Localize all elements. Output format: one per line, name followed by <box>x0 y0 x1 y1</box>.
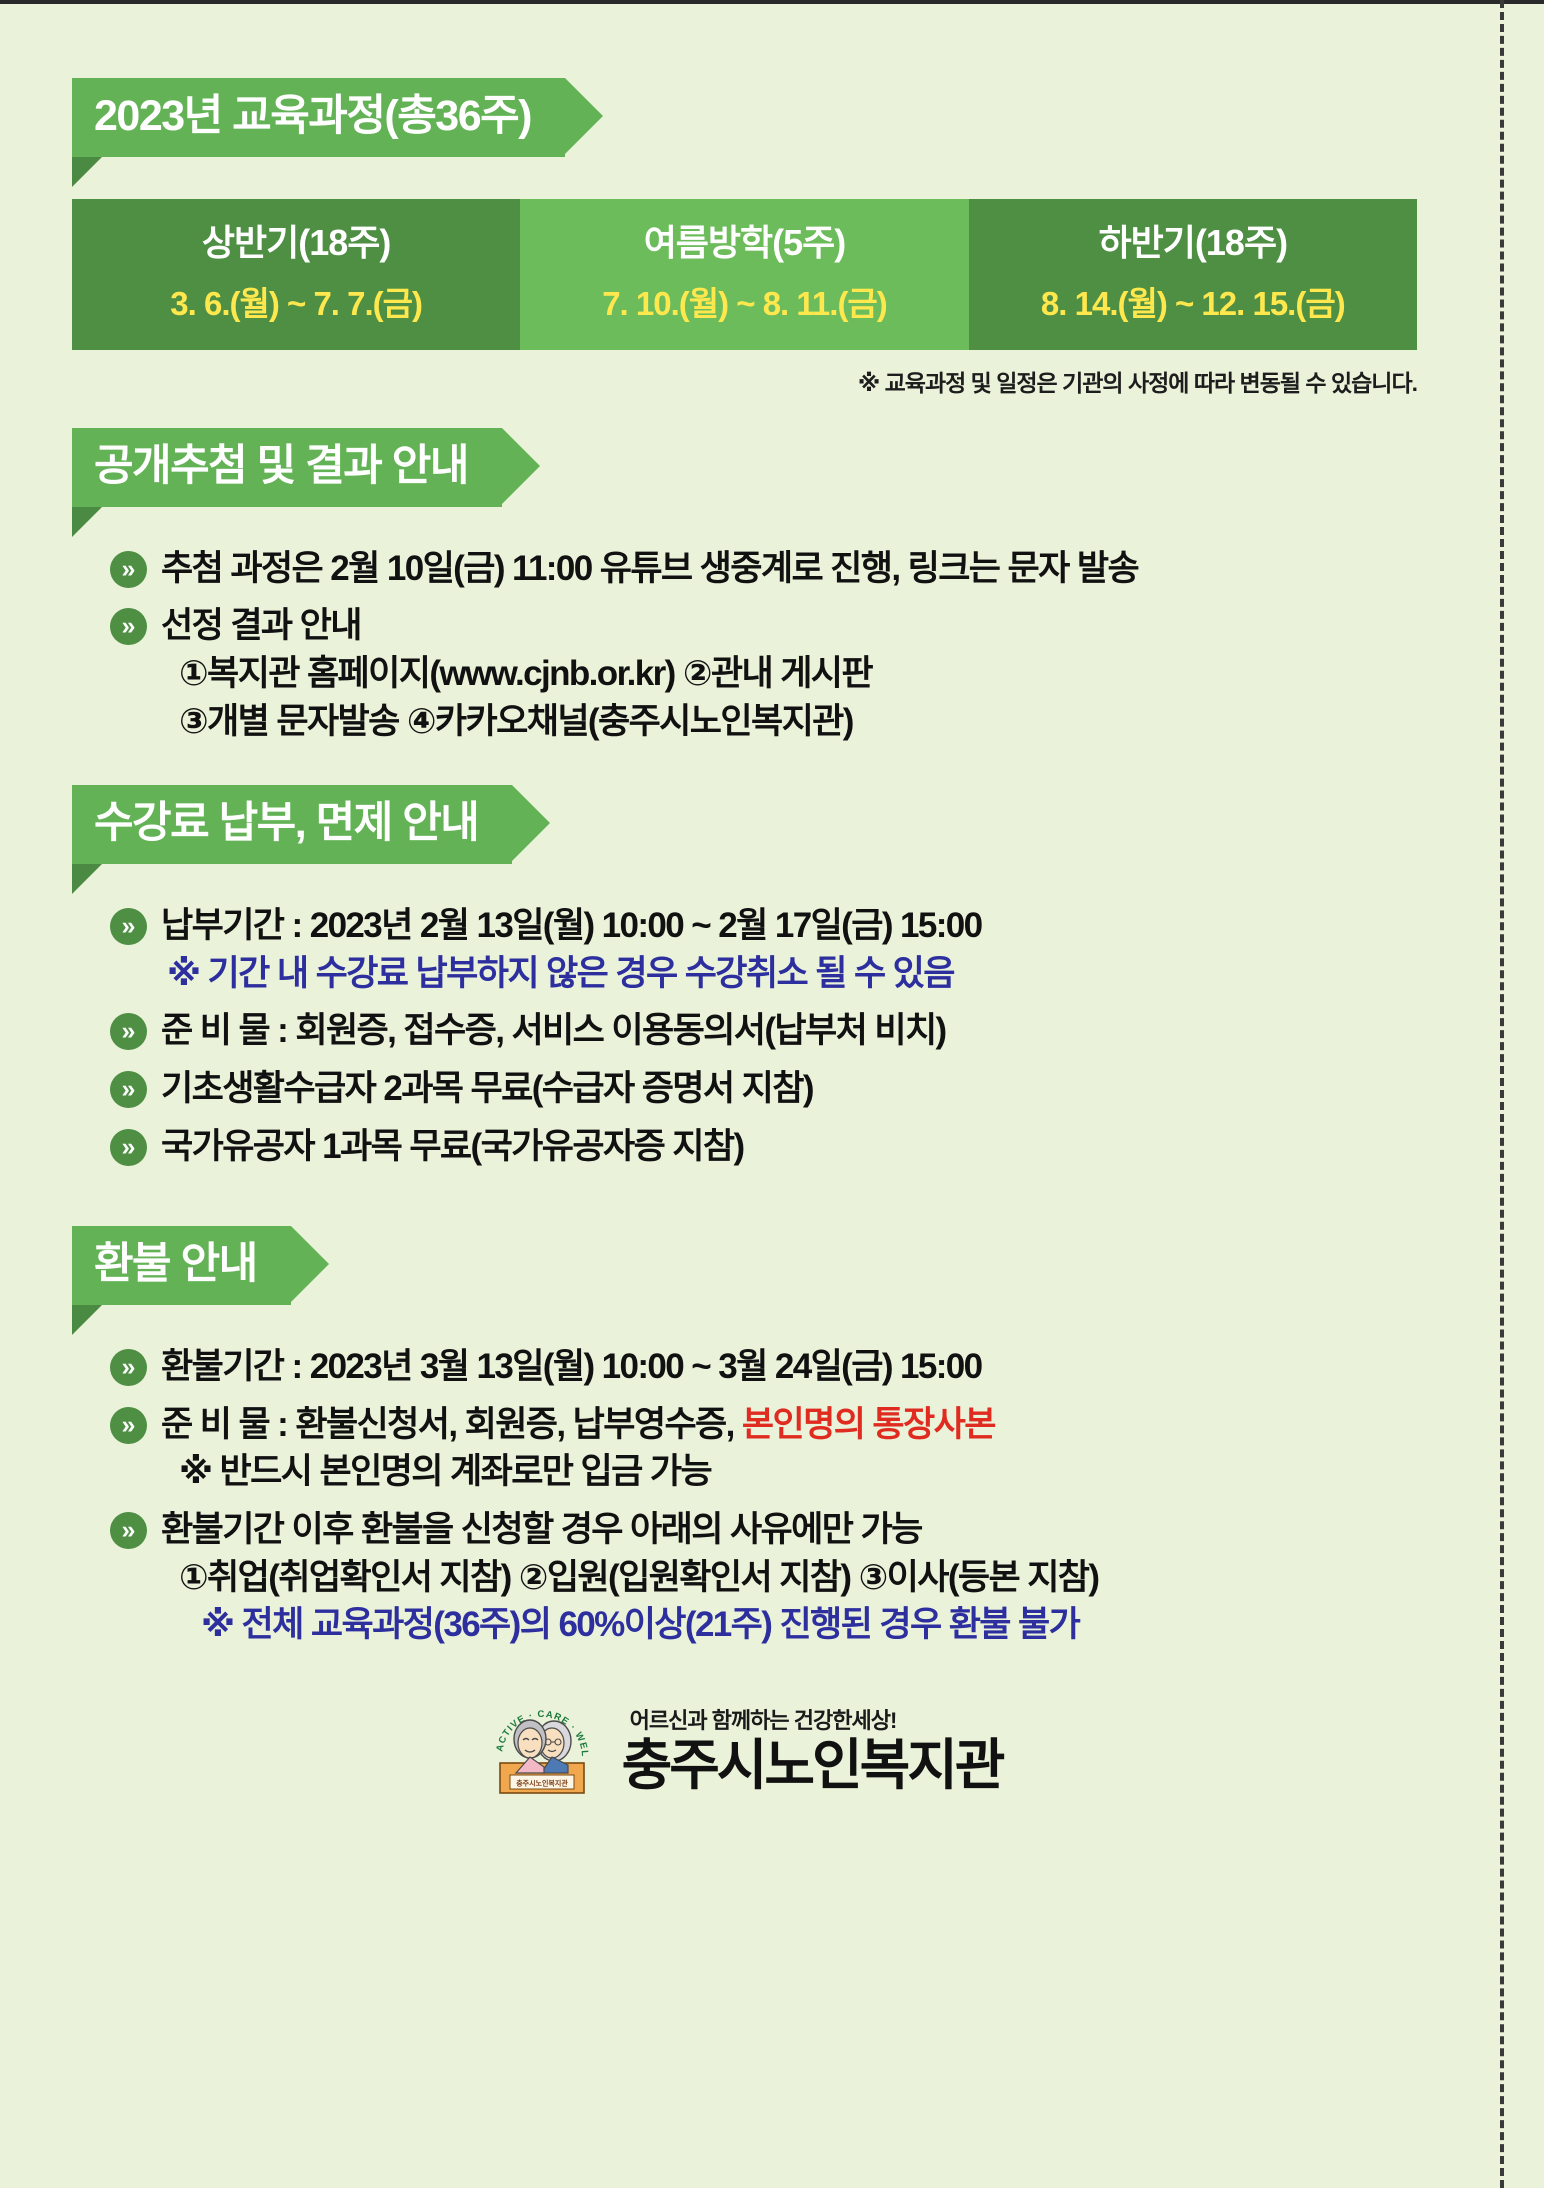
right-dashed-guide <box>1500 0 1504 2188</box>
schedule-column-summer-break: 여름방학(5주) 7. 10.(월) ~ 8. 11.(금) <box>520 199 968 350</box>
poster-content: 2023년 교육과정(총36주) 상반기(18주) 3. 6.(월) ~ 7. … <box>0 0 1490 2188</box>
footer-tagline: 어르신과 함께하는 건강한세상! <box>630 1703 1003 1735</box>
schedule-dates: 8. 14.(월) ~ 12. 15.(금) <box>969 284 1417 324</box>
payment-bullet-2: 준 비 물 : 회원증, 접수증, 서비스 이용동의서(납부처 비치) <box>161 1007 1490 1055</box>
chevron-double-right-icon: » <box>110 1349 147 1386</box>
schedule-dates: 3. 6.(월) ~ 7. 7.(금) <box>72 284 520 324</box>
refund-bullet-3: 환불기간 이후 환불을 신청할 경우 아래의 사유에만 가능 <box>161 1506 1490 1554</box>
organization-logo-icon: ACTIVE · CARE · WELFARE 충주시노인복지관 <box>488 1695 596 1803</box>
section-header-payment: 수강료 납부, 면제 안내 <box>72 785 1490 864</box>
refund-bullet-2: 준 비 물 : 환불신청서, 회원증, 납부영수증, 본인명의 통장사본 <box>161 1401 1490 1449</box>
list-item: » 추첨 과정은 2월 10일(금) 11:00 유튜브 생중계로 진행, 링크… <box>110 545 1490 593</box>
list-item: » 준 비 물 : 환불신청서, 회원증, 납부영수증, 본인명의 통장사본 ※… <box>110 1401 1490 1496</box>
schedule-title: 상반기(18주) <box>72 221 520 264</box>
refund-bullet-list: » 환불기간 : 2023년 3월 13일(월) 10:00 ~ 3월 24일(… <box>110 1343 1490 1649</box>
list-item: » 준 비 물 : 회원증, 접수증, 서비스 이용동의서(납부처 비치) <box>110 1007 1490 1055</box>
chevron-double-right-icon: » <box>110 608 147 645</box>
svg-text:충주시노인복지관: 충주시노인복지관 <box>516 1778 568 1787</box>
chevron-double-right-icon: » <box>110 1407 147 1444</box>
lottery-heading-text: 공개추첨 및 결과 안내 <box>72 428 502 507</box>
refund-bullet-2-emphasis: 본인명의 통장사본 <box>742 1405 995 1444</box>
list-item: » 환불기간 : 2023년 3월 13일(월) 10:00 ~ 3월 24일(… <box>110 1343 1490 1391</box>
ribbon-tail <box>72 1305 102 1335</box>
section-header-lottery: 공개추첨 및 결과 안내 <box>72 428 1490 507</box>
list-item: » 납부기간 : 2023년 2월 13일(월) 10:00 ~ 2월 17일(… <box>110 902 1490 997</box>
list-item: » 선정 결과 안내 ①복지관 홈페이지(www.cjnb.or.kr) ②관내… <box>110 602 1490 745</box>
list-item: » 환불기간 이후 환불을 신청할 경우 아래의 사유에만 가능 ①취업(취업확… <box>110 1506 1490 1649</box>
footer-text-group: 어르신과 함께하는 건강한세상! 충주시노인복지관 <box>622 1703 1003 1795</box>
payment-bullet-1: 납부기간 : 2023년 2월 13일(월) 10:00 ~ 2월 17일(금)… <box>161 902 1490 950</box>
refund-bullet-3-sub: ①취업(취업확인서 지참) ②입원(입원확인서 지참) ③이사(등본 지참) <box>179 1554 1490 1602</box>
lottery-bullet-1: 추첨 과정은 2월 10일(금) 11:00 유튜브 생중계로 진행, 링크는 … <box>161 545 1490 593</box>
payment-bullet-list: » 납부기간 : 2023년 2월 13일(월) 10:00 ~ 2월 17일(… <box>110 902 1490 1170</box>
ribbon-tail <box>72 157 102 187</box>
chevron-double-right-icon: » <box>110 1071 147 1108</box>
schedule-title: 여름방학(5주) <box>520 221 968 264</box>
section-header-curriculum: 2023년 교육과정(총36주) <box>72 78 1490 157</box>
footer-branding: ACTIVE · CARE · WELFARE 충주시노인복지관 <box>0 1695 1490 1803</box>
refund-bullet-2-prefix: 준 비 물 : 환불신청서, 회원증, 납부영수증, <box>161 1405 742 1444</box>
refund-bullet-1: 환불기간 : 2023년 3월 13일(월) 10:00 ~ 3월 24일(금)… <box>161 1343 1490 1391</box>
chevron-double-right-icon: » <box>110 551 147 588</box>
lottery-bullet-list: » 추첨 과정은 2월 10일(금) 11:00 유튜브 생중계로 진행, 링크… <box>110 545 1490 745</box>
list-item: » 국가유공자 1과목 무료(국가유공자증 지참) <box>110 1123 1490 1171</box>
ribbon-tail <box>72 864 102 894</box>
payment-bullet-4: 국가유공자 1과목 무료(국가유공자증 지참) <box>161 1123 1490 1171</box>
curriculum-disclaimer: ※ 교육과정 및 일정은 기관의 사정에 따라 변동될 수 있습니다. <box>0 364 1417 398</box>
payment-body: » 납부기간 : 2023년 2월 13일(월) 10:00 ~ 2월 17일(… <box>72 902 1490 1170</box>
ribbon-tail <box>72 507 102 537</box>
list-item: » 기초생활수급자 2과목 무료(수급자 증명서 지참) <box>110 1065 1490 1113</box>
lottery-body: » 추첨 과정은 2월 10일(금) 11:00 유튜브 생중계로 진행, 링크… <box>72 545 1490 745</box>
section-header-refund: 환불 안내 <box>72 1226 1490 1305</box>
refund-heading-text: 환불 안내 <box>72 1226 291 1305</box>
payment-heading-text: 수강료 납부, 면제 안내 <box>72 785 512 864</box>
lottery-bullet-2: 선정 결과 안내 <box>161 602 1490 650</box>
schedule-column-second-half: 하반기(18주) 8. 14.(월) ~ 12. 15.(금) <box>969 199 1417 350</box>
schedule-dates: 7. 10.(월) ~ 8. 11.(금) <box>520 284 968 324</box>
footer-organization-name: 충주시노인복지관 <box>622 1737 1003 1795</box>
refund-bullet-3-note: ※ 전체 교육과정(36주)의 60%이상(21주) 진행된 경우 환불 불가 <box>201 1601 1490 1649</box>
refund-body: » 환불기간 : 2023년 3월 13일(월) 10:00 ~ 3월 24일(… <box>72 1343 1490 1649</box>
chevron-double-right-icon: » <box>110 1013 147 1050</box>
curriculum-heading-text: 2023년 교육과정(총36주) <box>72 78 565 157</box>
chevron-double-right-icon: » <box>110 1129 147 1166</box>
lottery-bullet-2-sub-1: ①복지관 홈페이지(www.cjnb.or.kr) ②관내 게시판 <box>179 650 1490 698</box>
refund-bullet-2-note: ※ 반드시 본인명의 계좌로만 입금 가능 <box>179 1448 1490 1496</box>
schedule-title: 하반기(18주) <box>969 221 1417 264</box>
chevron-double-right-icon: » <box>110 1512 147 1549</box>
schedule-column-first-half: 상반기(18주) 3. 6.(월) ~ 7. 7.(금) <box>72 199 520 350</box>
payment-bullet-3: 기초생활수급자 2과목 무료(수급자 증명서 지참) <box>161 1065 1490 1113</box>
chevron-double-right-icon: » <box>110 908 147 945</box>
lottery-bullet-2-sub-2: ③개별 문자발송 ④카카오채널(충주시노인복지관) <box>179 698 1490 746</box>
payment-bullet-1-note: ※ 기간 내 수강료 납부하지 않은 경우 수강취소 될 수 있음 <box>167 950 1490 998</box>
poster-page: 2023년 교육과정(총36주) 상반기(18주) 3. 6.(월) ~ 7. … <box>0 0 1544 2188</box>
schedule-table: 상반기(18주) 3. 6.(월) ~ 7. 7.(금) 여름방학(5주) 7.… <box>72 199 1417 350</box>
